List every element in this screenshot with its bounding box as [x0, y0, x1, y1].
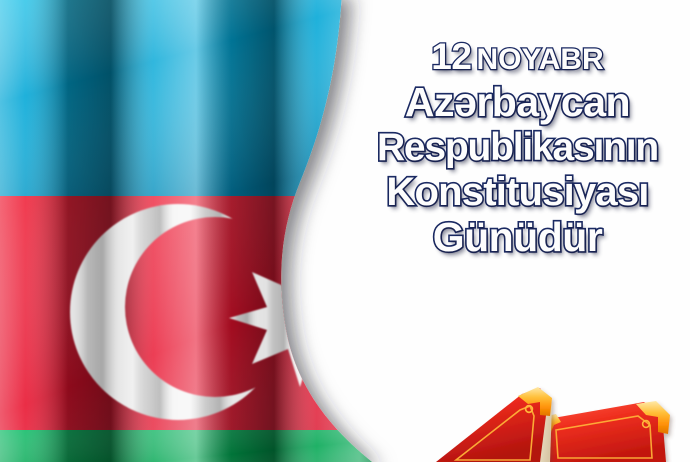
book-back: [534, 401, 670, 462]
book-front: [430, 387, 552, 462]
constitution-day-banner: 12NOYABR Azərbaycan Respublikasının Kons…: [0, 0, 690, 462]
law-books: [430, 384, 690, 462]
